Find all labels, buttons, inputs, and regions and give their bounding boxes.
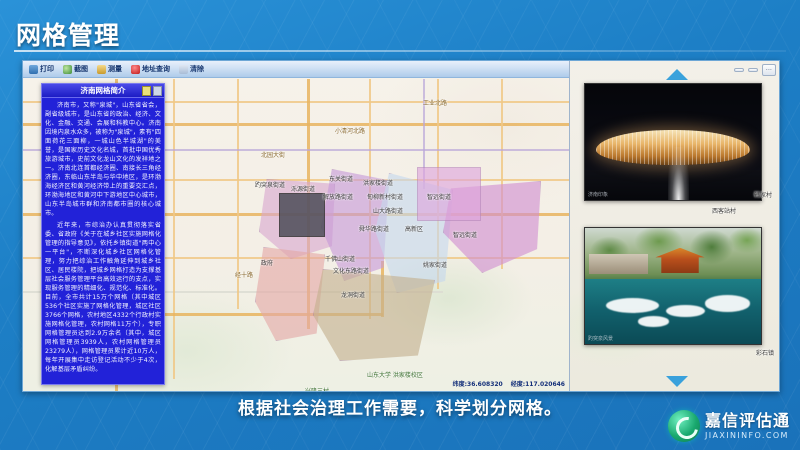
photo-thumbnail[interactable]: 济南印象 [584,83,762,201]
page-title: 网格管理 [16,16,120,52]
brand-text: 嘉信评估通 JIAXININFO.COM [705,413,790,440]
printer-icon [29,65,38,74]
satellite-map-button[interactable] [748,68,758,72]
more-options-button[interactable]: ··· [762,64,776,76]
map-road-label: 经十路 [235,273,253,280]
address-search-button[interactable]: 地址查询 [131,64,170,74]
clear-label: 清除 [190,64,204,74]
map-road-label: 北园大街 [261,153,285,160]
map-place-label: 山东大学 洪家楼校区 [367,373,423,380]
map-district-label: 解放路街道 [323,195,353,202]
rail-map-label: 韩家村 [754,193,772,200]
map-district-label: 甸柳新村街道 [367,195,403,202]
brand-logo: 嘉信评估通 JIAXININFO.COM [668,410,790,442]
map-viewport[interactable]: 小清河北路 工业北路 北园大街 经十路 趵突泉街道 泺源街道 东关街道 解放路街… [23,61,569,391]
brand-name-en: JIAXININFO.COM [705,432,790,440]
pavilion-hall [589,254,649,275]
screenshot-label: 截图 [74,64,88,74]
map-district-label: 龙洞街道 [341,293,365,300]
map-district-label: 文化东路街道 [333,269,369,276]
map-district-label: 智远街道 [427,195,451,202]
map-place-label: 兴隆三村 [305,389,329,391]
info-panel-body: 济南市，又称"泉城"，山东省省会，副省级城市，是山东省的政治、经济、文化、金融、… [42,98,164,375]
chevron-down-icon[interactable] [666,376,688,387]
photo-thumbnail[interactable]: 趵突泉风景 [584,227,762,345]
measure-button[interactable]: 测量 [97,64,122,74]
foam-burst [638,316,670,326]
rail-map-label: 西客站村 [712,209,736,216]
gis-application-window: 小清河北路 工业北路 北园大街 经十路 趵突泉街道 泺源街道 东关街道 解放路街… [22,60,780,392]
map-toolbar: 打印 截图 测量 地址查询 清除 [23,61,569,78]
map-district-label: 趵突泉街道 [255,183,285,190]
foam-burst [606,298,659,313]
map-district-label: 山大路街道 [373,209,403,216]
measure-label: 测量 [108,64,122,74]
photo-rail: ··· 济南印象 [569,61,780,391]
map-district-label: 泺源街道 [291,187,315,194]
title-divider [14,50,786,52]
chevron-up-icon[interactable] [666,69,688,80]
map-district-label: 东关街道 [329,177,353,184]
map-pin-icon [131,65,140,74]
map-district-label: 舜华路街道 [359,227,389,234]
info-paragraph: 济南市，又称"泉城"，山东省省会，副省级城市，是山东省的政治、经济、文化、金融、… [45,102,161,219]
photo-watermark: 济南印象 [588,191,608,198]
clear-button[interactable]: 清除 [179,64,204,74]
minimize-icon[interactable] [142,86,151,96]
screenshot-button[interactable]: 截图 [63,64,88,74]
latitude-value: 纬度:36.608320 [453,379,503,388]
district-polygon[interactable] [279,193,325,237]
map-district-label: 洪家楼街道 [363,181,393,188]
print-button[interactable]: 打印 [29,64,54,74]
map-district-label: 姚家街道 [423,263,447,270]
info-panel-titlebar: 济南网格简介 [42,84,164,98]
brand-name-cn: 嘉信评估通 [705,413,790,429]
globe-swirl-icon [668,410,700,442]
map-mode-buttons: ··· [734,64,776,76]
longitude-value: 经度:117.020646 [511,379,565,388]
map-district-label: 高新区 [405,227,423,234]
ruler-icon [97,65,106,74]
info-panel-controls [142,86,162,96]
light-beam [668,147,689,200]
camera-icon [63,65,72,74]
eraser-icon [179,65,188,74]
map-place-label: 政府 [261,261,273,268]
coordinate-readout: 纬度:36.608320 经度:117.020646 [453,379,565,388]
map-district-label: 千佛山街道 [325,257,355,264]
foam-burst [705,295,751,311]
map-road-label: 小清河北路 [335,129,365,136]
address-search-label: 地址查询 [142,64,170,74]
overlay-map-button[interactable] [734,68,744,72]
info-paragraph: 近年来，市综治办认真贯彻落实省委、省政府《关于在城乡社区实施网格化管理的指导意见… [45,222,161,375]
foam-burst [666,305,705,318]
close-icon[interactable] [153,86,162,96]
map-district-label: 智远街道 [453,233,477,240]
info-panel-title: 济南网格简介 [81,85,126,96]
photo-watermark: 趵突泉风景 [588,335,613,342]
print-label: 打印 [40,64,54,74]
info-panel[interactable]: 济南网格简介 济南市，又称"泉城"，山东省省会，副省级城市，是山东省的政治、经济… [41,83,165,385]
rail-map-label: 彩石镇 [756,351,774,358]
slide-background: 网格管理 [0,0,800,450]
map-road-label: 工业北路 [423,101,447,108]
